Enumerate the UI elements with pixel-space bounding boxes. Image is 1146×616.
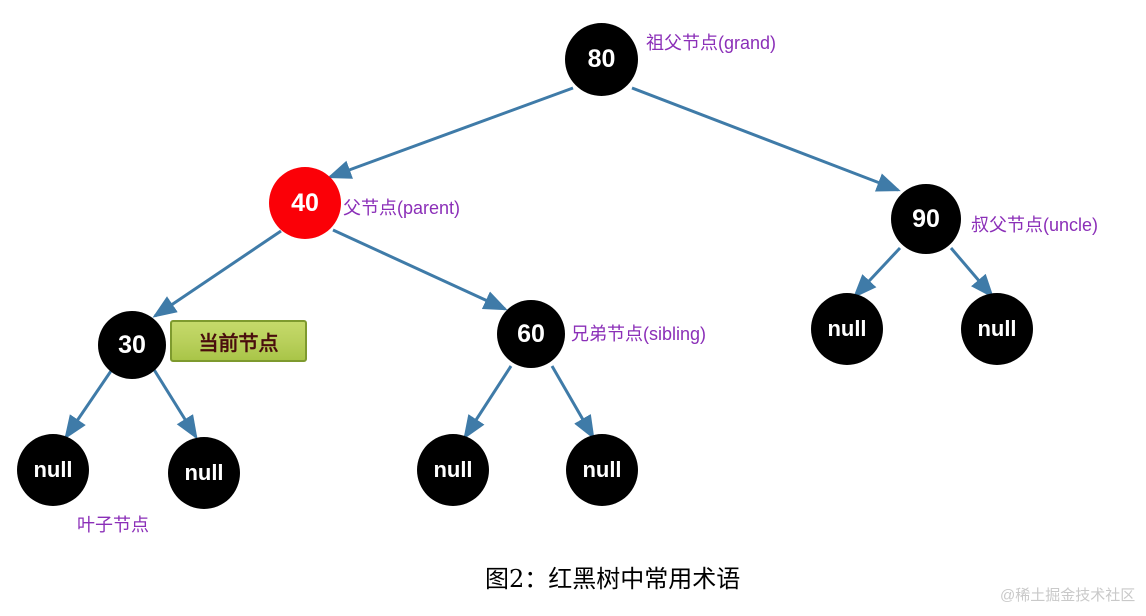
figure-caption: 图2：红黑树中常用术语 [485,559,740,594]
node-current-left-null: null [17,434,89,506]
node-grand: 80 [565,23,638,96]
edge-uncle-right [951,248,992,296]
edge-current-left [66,368,113,437]
edge-grand-parent [330,88,573,177]
label-leaf: 叶子节点 [77,511,149,537]
edge-sibling-left [465,366,511,437]
edge-grand-uncle [632,88,898,190]
node-parent: 40 [269,167,341,239]
node-current-left-null-label: null [33,457,72,483]
node-current-label: 30 [118,331,146,360]
edge-uncle-left [855,248,900,296]
edge-parent-sibling [333,230,505,309]
node-sibling-right-null-label: null [582,457,621,483]
diagram-canvas: 80 40 90 30 60 null null null null null … [0,0,1146,616]
label-uncle: 叔父节点(uncle) [971,211,1098,237]
edge-parent-current [155,231,281,316]
edge-sibling-right [552,366,593,437]
label-grand: 祖父节点(grand) [646,29,776,55]
node-sibling: 60 [497,300,565,368]
current-node-tag: 当前节点 [170,320,307,362]
label-parent: 父节点(parent) [343,194,460,220]
node-uncle-right-null-label: null [977,316,1016,342]
node-uncle-left-null: null [811,293,883,365]
node-sibling-left-null-label: null [433,457,472,483]
node-sibling-left-null: null [417,434,489,506]
node-sibling-right-null: null [566,434,638,506]
node-uncle-right-null: null [961,293,1033,365]
current-node-tag-label: 当前节点 [199,327,279,356]
edge-current-right [153,368,196,437]
node-current-right-null: null [168,437,240,509]
node-uncle: 90 [891,184,961,254]
node-current-right-null-label: null [184,460,223,486]
watermark: @稀土掘金技术社区 [1000,584,1135,605]
node-uncle-left-null-label: null [827,316,866,342]
node-parent-label: 40 [291,189,319,218]
node-current: 30 [98,311,166,379]
node-uncle-label: 90 [912,205,940,234]
node-sibling-label: 60 [517,320,545,349]
label-sibling: 兄弟节点(sibling) [571,320,706,346]
node-grand-label: 80 [588,45,616,74]
